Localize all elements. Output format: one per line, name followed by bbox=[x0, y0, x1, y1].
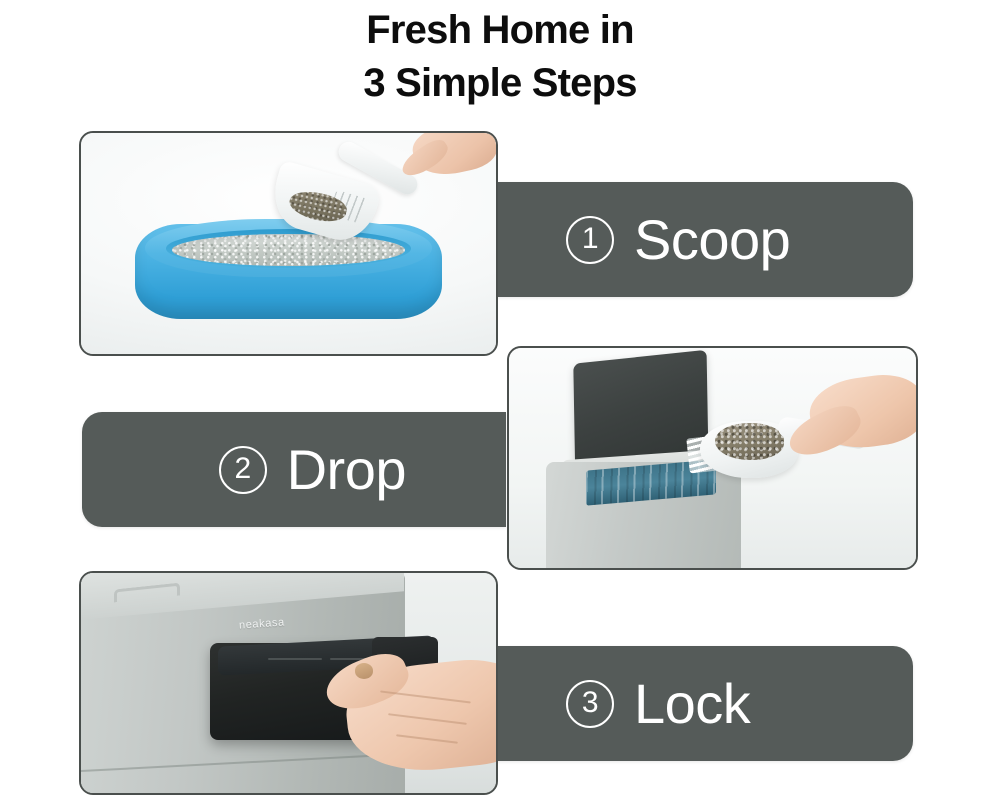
step-number-icon-1: 1 bbox=[566, 216, 614, 264]
step-photo-1 bbox=[79, 131, 498, 356]
step-label-bar-2: 2 Drop bbox=[82, 412, 506, 527]
drawer-slot bbox=[268, 658, 322, 660]
step-number-icon-2: 2 bbox=[219, 446, 267, 494]
litter-clump bbox=[715, 423, 784, 460]
step-number-icon-3: 3 bbox=[566, 680, 614, 728]
step-photo-2 bbox=[507, 346, 918, 570]
scoop-photo-scene bbox=[81, 133, 496, 354]
step-photo-3: neakasa bbox=[79, 571, 498, 795]
step-label-bar-1: 1 Scoop bbox=[490, 182, 913, 297]
step-label-text-3: Lock bbox=[634, 676, 750, 732]
step-label-3: 3 Lock bbox=[566, 676, 750, 732]
litter-granules bbox=[172, 234, 404, 266]
step-label-text-1: Scoop bbox=[634, 212, 790, 268]
step-label-bar-3: 3 Lock bbox=[490, 646, 913, 761]
thumb-icon bbox=[355, 663, 373, 678]
lock-photo-scene: neakasa bbox=[81, 573, 496, 793]
step-label-2: 2 Drop bbox=[219, 442, 406, 498]
step-label-1: 1 Scoop bbox=[566, 212, 790, 268]
drop-photo-scene bbox=[509, 348, 916, 568]
step-label-text-2: Drop bbox=[287, 442, 406, 498]
